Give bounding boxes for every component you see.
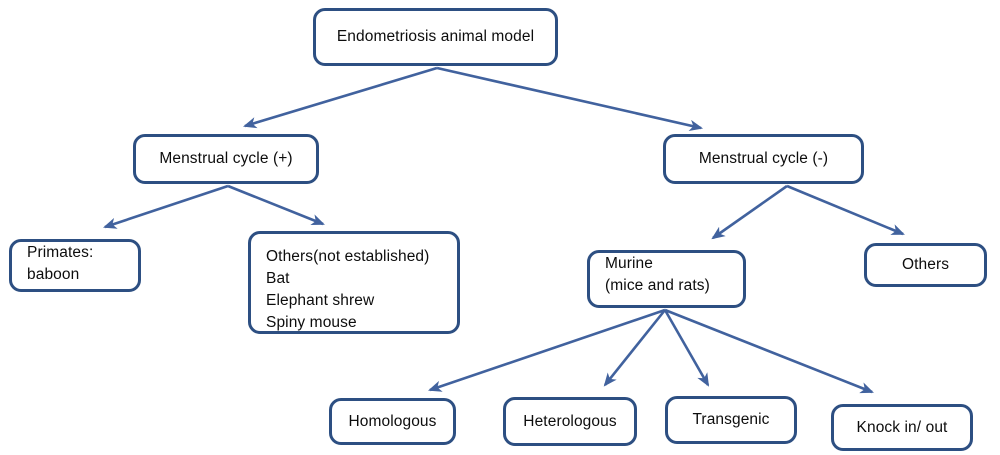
node-label-homologous: Homologous — [332, 411, 453, 433]
node-knock-in-out[interactable]: Knock in/ out — [831, 404, 973, 451]
flowchart-canvas: Endometriosis animal modelMenstrual cycl… — [0, 0, 1000, 455]
node-label-root: Endometriosis animal model — [316, 26, 555, 48]
node-label-murine: Murine (mice and rats) — [590, 253, 743, 297]
connector-arrow-murine-to-homologous — [430, 310, 665, 390]
connector-arrow-menstrual-negative-to-murine — [713, 186, 787, 238]
node-transgenic[interactable]: Transgenic — [665, 396, 797, 444]
node-label-transgenic: Transgenic — [668, 409, 794, 431]
node-label-primates: Primates: baboon — [12, 242, 138, 286]
connector-arrow-murine-to-transgenic — [665, 310, 708, 385]
connector-arrow-root-to-menstrual-positive — [245, 68, 437, 126]
node-label-menstrual-negative: Menstrual cycle (-) — [666, 148, 861, 170]
connector-arrow-menstrual-positive-to-others-not-established — [228, 186, 323, 224]
connector-arrow-root-to-menstrual-negative — [437, 68, 701, 128]
node-label-knock-in-out: Knock in/ out — [834, 417, 970, 439]
connector-arrow-murine-to-knock-in-out — [665, 310, 872, 392]
connector-arrow-murine-to-heterologous — [605, 310, 665, 385]
node-heterologous[interactable]: Heterologous — [503, 397, 637, 446]
node-label-menstrual-positive: Menstrual cycle (+) — [136, 148, 316, 170]
node-primates[interactable]: Primates: baboon — [9, 239, 141, 292]
node-menstrual-positive[interactable]: Menstrual cycle (+) — [133, 134, 319, 184]
node-label-others: Others — [867, 254, 984, 276]
edge-layer — [0, 0, 1000, 455]
node-others-not-established[interactable]: Others(not established) Bat Elephant shr… — [248, 231, 460, 334]
node-label-heterologous: Heterologous — [506, 411, 634, 433]
connector-arrow-menstrual-positive-to-primates — [105, 186, 228, 227]
node-menstrual-negative[interactable]: Menstrual cycle (-) — [663, 134, 864, 184]
node-murine[interactable]: Murine (mice and rats) — [587, 250, 746, 308]
node-others[interactable]: Others — [864, 243, 987, 287]
node-label-others-not-established: Others(not established) Bat Elephant shr… — [251, 246, 457, 334]
connector-arrow-menstrual-negative-to-others — [787, 186, 903, 234]
node-homologous[interactable]: Homologous — [329, 398, 456, 445]
node-root[interactable]: Endometriosis animal model — [313, 8, 558, 66]
